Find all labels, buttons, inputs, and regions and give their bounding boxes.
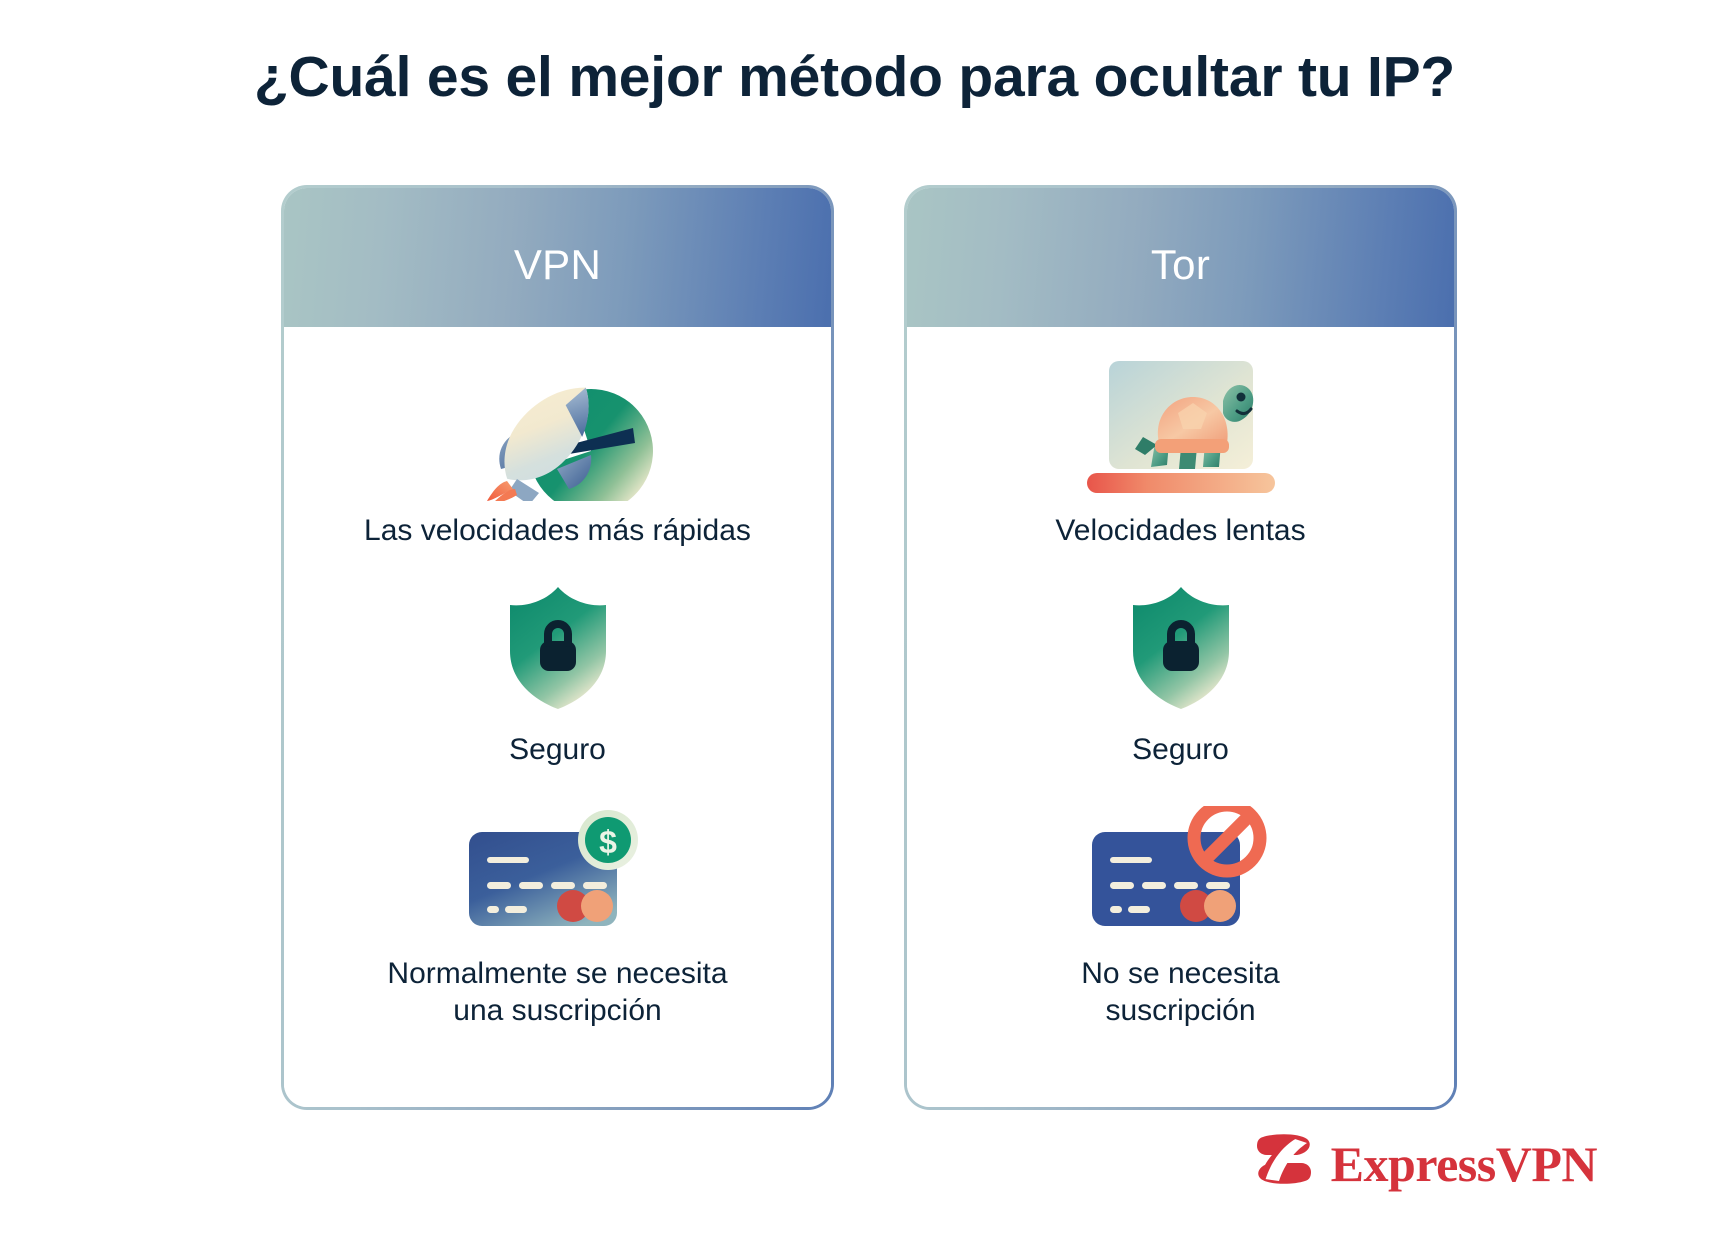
laptop-turtle-icon bbox=[1081, 351, 1281, 501]
card-vpn-body: Las velocidades más rápidas bbox=[284, 327, 831, 1107]
rocket-speedometer-icon bbox=[443, 351, 673, 501]
card-vpn-header: VPN bbox=[284, 188, 831, 327]
card-vpn-title: VPN bbox=[514, 241, 601, 289]
feature-tor-payment-label: No se necesita suscripción bbox=[1081, 956, 1279, 1029]
expressvpn-logo-text: ExpressVPN bbox=[1331, 1139, 1597, 1189]
expressvpn-logo[interactable]: ExpressVPN bbox=[1251, 1131, 1597, 1192]
card-vpn: VPN bbox=[281, 185, 834, 1110]
feature-tor-speed: Velocidades lentas bbox=[907, 351, 1454, 550]
card-tor: Tor bbox=[904, 185, 1457, 1110]
feature-vpn-speed-label: Las velocidades más rápidas bbox=[364, 513, 751, 550]
page-title: ¿Cuál es el mejor método para ocultar tu… bbox=[0, 44, 1709, 110]
shield-lock-icon bbox=[1127, 584, 1235, 712]
feature-vpn-secure: Seguro bbox=[284, 584, 831, 769]
credit-card-prohibited-icon bbox=[1086, 806, 1276, 934]
card-tor-title: Tor bbox=[1151, 241, 1210, 289]
card-tor-header: Tor bbox=[907, 188, 1454, 327]
feature-vpn-secure-label: Seguro bbox=[509, 732, 606, 769]
card-tor-body: Velocidades lentas bbox=[907, 327, 1454, 1107]
svg-text:$: $ bbox=[599, 824, 617, 860]
comparison-cards: VPN bbox=[281, 185, 1457, 1110]
shield-lock-icon bbox=[504, 584, 612, 712]
feature-vpn-payment: $ Normalmente se necesita una suscripció… bbox=[284, 806, 831, 1029]
feature-vpn-speed: Las velocidades más rápidas bbox=[284, 351, 831, 550]
feature-vpn-payment-label: Normalmente se necesita una suscripción bbox=[387, 956, 727, 1029]
feature-tor-payment: No se necesita suscripción bbox=[907, 806, 1454, 1029]
infographic-page: ¿Cuál es el mejor método para ocultar tu… bbox=[0, 0, 1709, 1240]
feature-tor-secure-label: Seguro bbox=[1132, 732, 1229, 769]
feature-tor-secure: Seguro bbox=[907, 584, 1454, 769]
feature-tor-speed-label: Velocidades lentas bbox=[1055, 513, 1305, 550]
expressvpn-logo-icon bbox=[1251, 1131, 1317, 1192]
credit-card-dollar-icon: $ bbox=[463, 806, 653, 934]
